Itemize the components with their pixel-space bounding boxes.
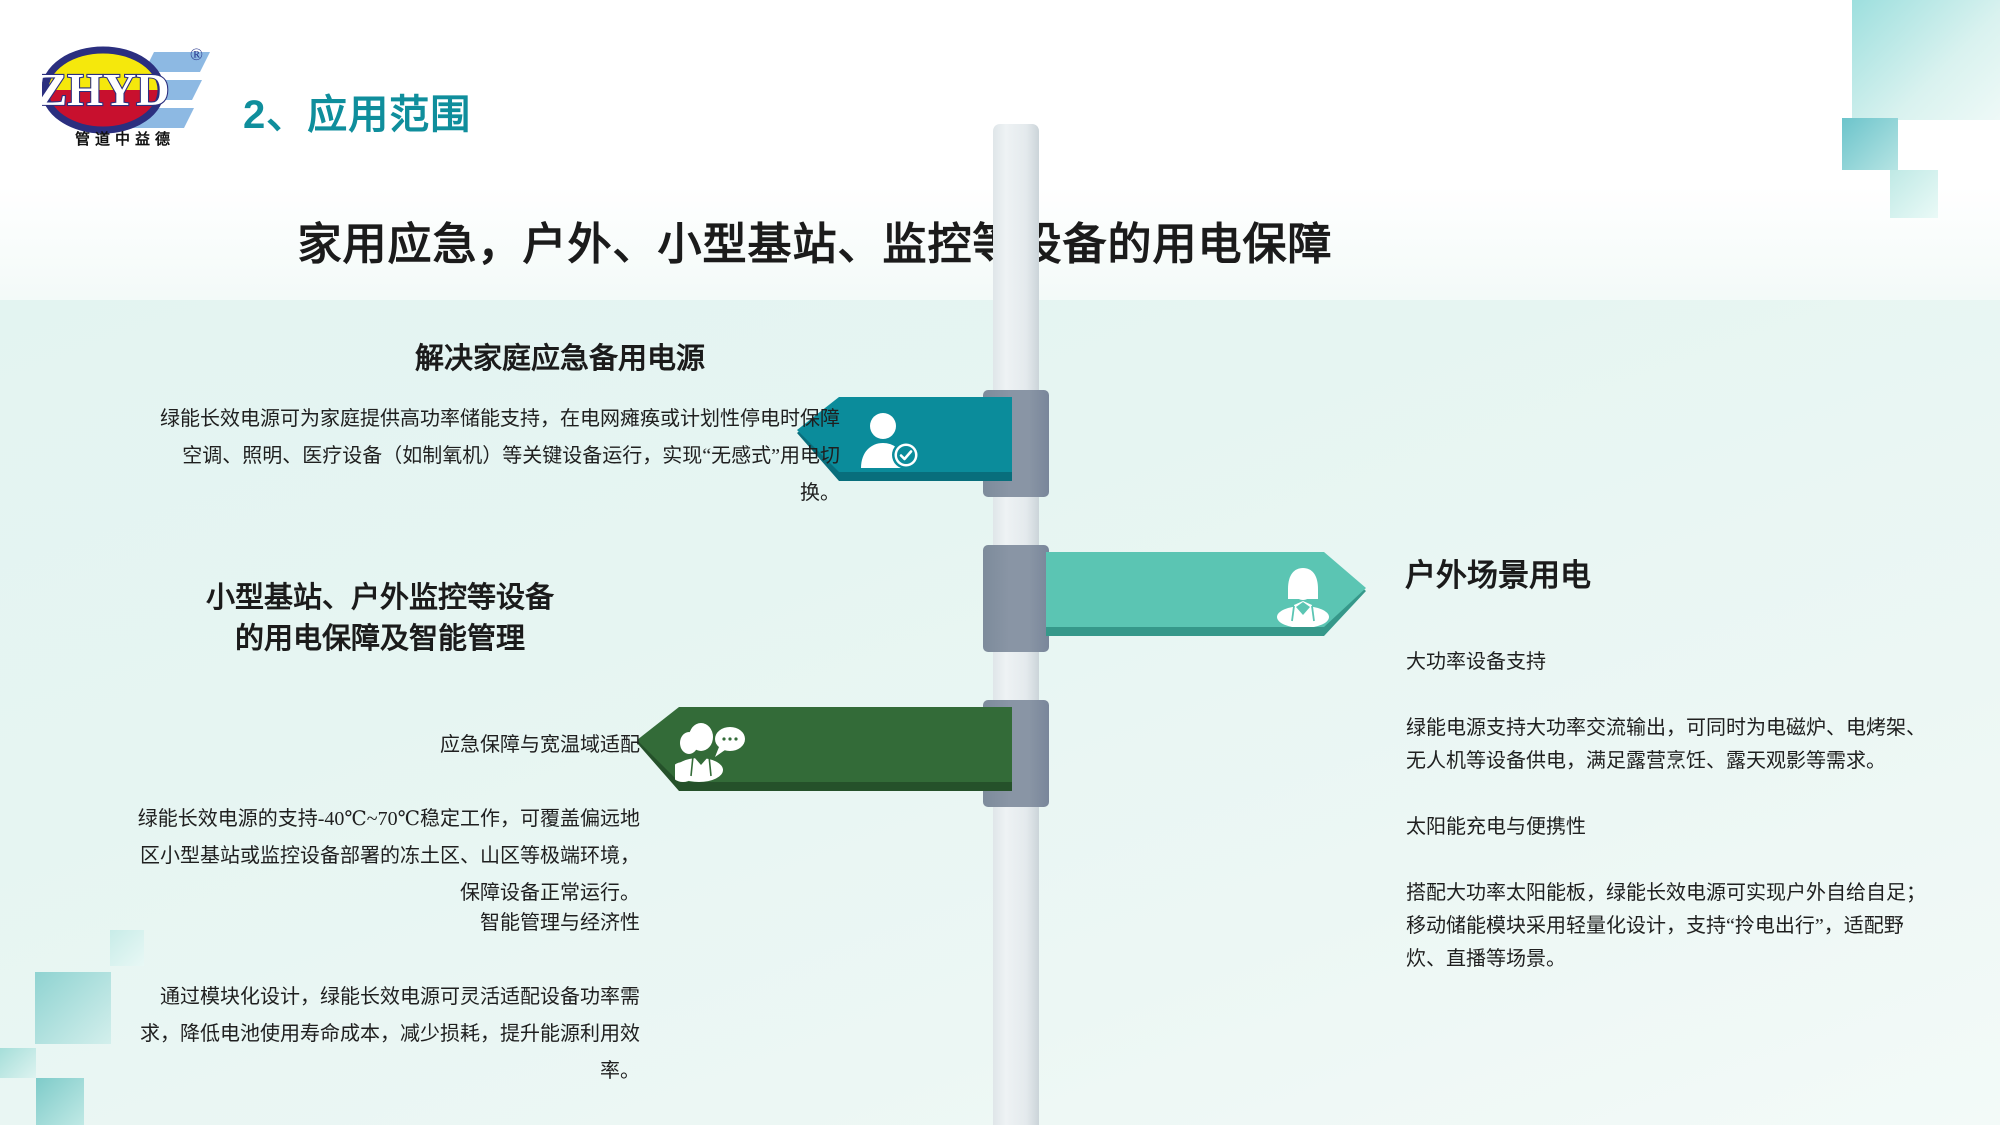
body-solar-portability: 搭配大功率太阳能板，绿能长效电源可实现户外自给自足；移动储能模块采用轻量化设计，… bbox=[1406, 882, 1926, 970]
decor-square-top-right-2 bbox=[1842, 118, 1898, 170]
user-female-icon bbox=[1270, 565, 1336, 627]
subheading-solar-portability: 太阳能充电与便携性 bbox=[1406, 816, 1586, 838]
heading-home-emergency: 解决家庭应急备用电源 bbox=[260, 335, 860, 377]
svg-text:ZHYD: ZHYD bbox=[42, 64, 169, 115]
heading-base-station-group: 小型基站、户外监控等设备 的用电保障及智能管理 bbox=[120, 578, 640, 660]
user-check-icon bbox=[857, 410, 923, 472]
body-smart-management: 通过模块化设计，绿能长效电源可灵活适配设备功率需求，降低电池使用寿命成本，减少损… bbox=[140, 986, 640, 1082]
users-chat-icon bbox=[675, 720, 749, 782]
decor-square-top-right-1 bbox=[1852, 0, 2000, 120]
paragraph-home-emergency: 绿能长效电源可为家庭提供高功率储能支持，在电网瘫痪或计划性停电时保障空调、照明、… bbox=[150, 401, 840, 512]
signpost-collar-2 bbox=[983, 545, 1049, 652]
page-title: 家用应急，户外、小型基站、监控等设备的用电保障 bbox=[0, 208, 1630, 272]
company-logo: ZHYD ® 管道中益德 bbox=[42, 42, 217, 152]
body-high-power-devices: 绿能电源支持大功率交流输出，可同时为电磁炉、电烤架、无人机等设备供电，满足露营烹… bbox=[1406, 717, 1926, 772]
heading-outdoor-power: 户外场景用电 bbox=[1405, 550, 1925, 595]
signpost-arrow-base-station[interactable] bbox=[637, 702, 1012, 799]
paragraph-smart-management: 智能管理与经济性 通过模块化设计，绿能长效电源可灵活适配设备功率需求，降低电池使… bbox=[130, 868, 640, 1090]
slide-canvas: ZHYD ® 管道中益德 2、应用范围 家用应急，户外、小型基站、监控等设备的用… bbox=[0, 0, 2000, 1125]
decor-square-bottom-left-3 bbox=[0, 1048, 36, 1078]
paragraph-solar-portability: 太阳能充电与便携性 搭配大功率太阳能板，绿能长效电源可实现户外自给自足；移动储能… bbox=[1406, 778, 1936, 976]
registered-trademark-icon: ® bbox=[190, 45, 203, 65]
logo-company-name: 管道中益德 bbox=[50, 128, 200, 149]
subheading-smart-management: 智能管理与经济性 bbox=[480, 912, 640, 934]
signpost-arrow-outdoor[interactable] bbox=[1046, 547, 1366, 644]
decor-square-bottom-left-4 bbox=[36, 1078, 84, 1125]
section-title: 2、应用范围 bbox=[243, 82, 471, 140]
decor-square-bottom-left-1 bbox=[35, 972, 111, 1044]
paragraph-high-power-devices: 大功率设备支持 绿能电源支持大功率交流输出，可同时为电磁炉、电烤架、无人机等设备… bbox=[1406, 613, 1936, 778]
decor-square-top-right-3 bbox=[1890, 170, 1938, 218]
subheading-emergency-temperature: 应急保障与宽温域适配 bbox=[440, 734, 640, 756]
subheading-high-power-devices: 大功率设备支持 bbox=[1406, 651, 1546, 673]
